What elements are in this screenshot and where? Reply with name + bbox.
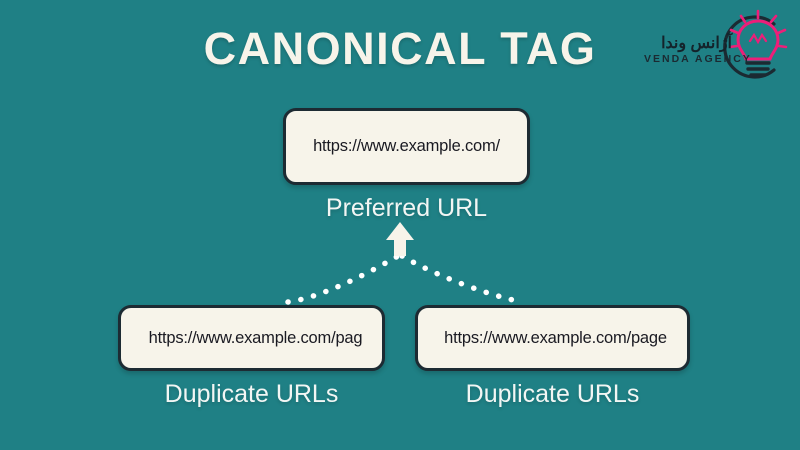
logo-wordmark: آژانس وندا VENDA AGENCY [644,36,732,66]
preferred-url-text: https://www.example.com/ [313,137,500,156]
dotted-path-right [402,256,522,302]
slide-canvas: CANONICAL TAG [0,0,800,450]
dotted-path-left [288,256,398,302]
logo-name-en: VENDA AGENCY [644,53,732,67]
duplicate-url-caption-right: Duplicate URLs [415,382,690,407]
preferred-url-caption: Preferred URL [283,196,530,221]
duplicate-url-caption-left: Duplicate URLs [118,382,385,407]
preferred-url-box[interactable]: https://www.example.com/ [283,108,530,185]
duplicate-url-text-right: https://www.example.com/page [444,329,667,348]
logo-name-fa: آژانس وندا [644,36,732,53]
duplicate-url-box-left[interactable]: https://www.example.com/pag [118,305,385,371]
duplicate-url-box-right[interactable]: https://www.example.com/page [415,305,690,371]
arrow-up-icon [386,222,414,256]
duplicate-url-text-left: https://www.example.com/pag [149,329,363,348]
brand-logo: آژانس وندا VENDA AGENCY [642,6,792,88]
